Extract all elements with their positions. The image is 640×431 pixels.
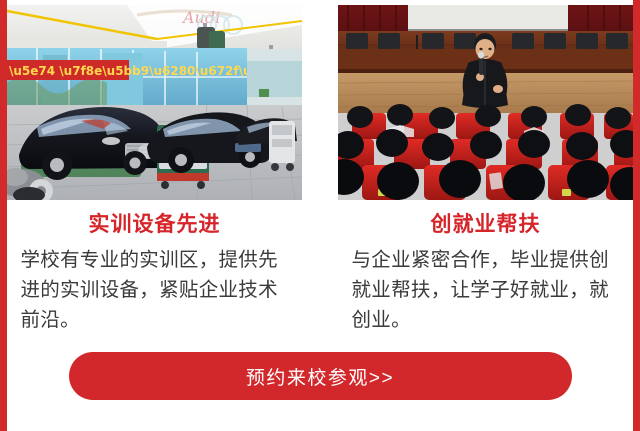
feature-card-employment-support: 创就业帮扶 与企业紧密合作，毕业提供创就业帮扶，让学子好就业，就创业。 [338, 5, 633, 335]
card-body: 学校有专业的实训区，提供先进的实训设备，紧贴企业技术前沿。 [21, 245, 289, 335]
feature-card-training-equipment: Audi [7, 5, 302, 335]
feature-cards: Audi [7, 5, 633, 335]
cta-container: 预约来校参观>> [7, 352, 633, 400]
left-red-rail [0, 0, 7, 431]
book-campus-visit-button[interactable]: 预约来校参观>> [69, 352, 572, 400]
card-title: 实训设备先进 [89, 214, 221, 235]
card-title: 创就业帮扶 [431, 214, 541, 235]
auditorium-lecture-photo [338, 5, 633, 200]
card-body: 与企业紧密合作，毕业提供创就业帮扶，让学子好就业，就创业。 [352, 245, 620, 335]
right-red-rail [633, 0, 640, 431]
auto-training-workshop-photo: Audi [7, 5, 302, 200]
promo-panel: Audi [0, 0, 640, 431]
panel-content: Audi [7, 0, 633, 431]
